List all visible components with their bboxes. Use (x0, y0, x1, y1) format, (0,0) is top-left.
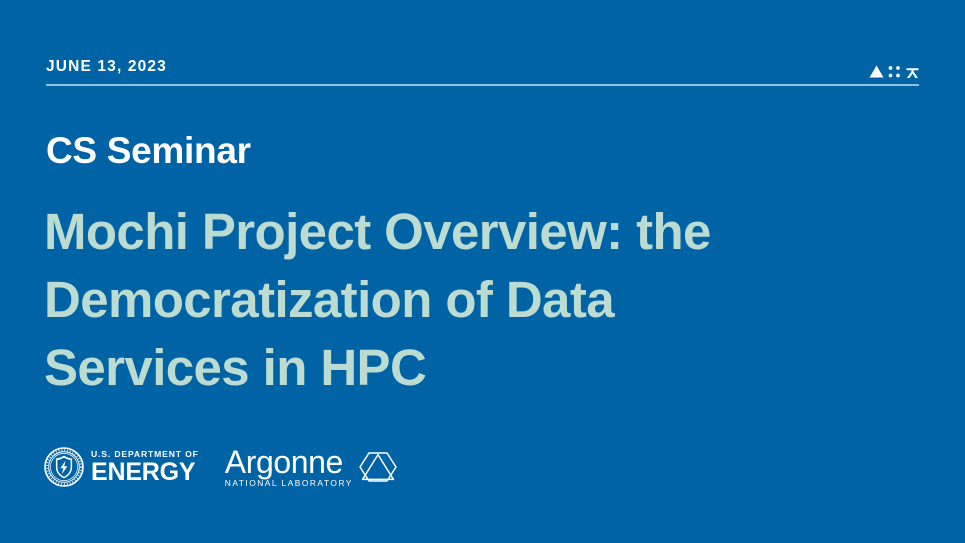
slide-date: JUNE 13, 2023 (46, 58, 919, 76)
slide-header: JUNE 13, 2023 (46, 58, 919, 90)
argonne-hexagon-icon (357, 448, 399, 486)
doe-logo: U.S. DEPARTMENT OF ENERGY (44, 445, 199, 489)
header-divider (46, 84, 919, 86)
title-line-2: Democratization of Data (44, 266, 844, 334)
page-title: Mochi Project Overview: the Democratizat… (44, 198, 844, 402)
argonne-corner-mark-icon (866, 62, 922, 82)
title-line-1: Mochi Project Overview: the (44, 198, 844, 266)
argonne-name-label: Argonne (225, 445, 353, 479)
doe-seal-icon (44, 447, 84, 487)
doe-energy-label: ENERGY (91, 459, 199, 485)
argonne-wordmark: Argonne NATIONAL LABORATORY (225, 445, 353, 489)
title-line-3: Services in HPC (44, 334, 844, 402)
argonne-logo: Argonne NATIONAL LABORATORY (225, 443, 399, 491)
argonne-subtitle-label: NATIONAL LABORATORY (225, 478, 353, 489)
logo-bar: U.S. DEPARTMENT OF ENERGY Argonne NATION… (44, 441, 399, 493)
slide-root: JUNE 13, 2023 CS Seminar Mochi Project O… (0, 0, 965, 543)
slide-eyebrow: CS Seminar (46, 128, 251, 174)
doe-wordmark: U.S. DEPARTMENT OF ENERGY (91, 449, 199, 485)
